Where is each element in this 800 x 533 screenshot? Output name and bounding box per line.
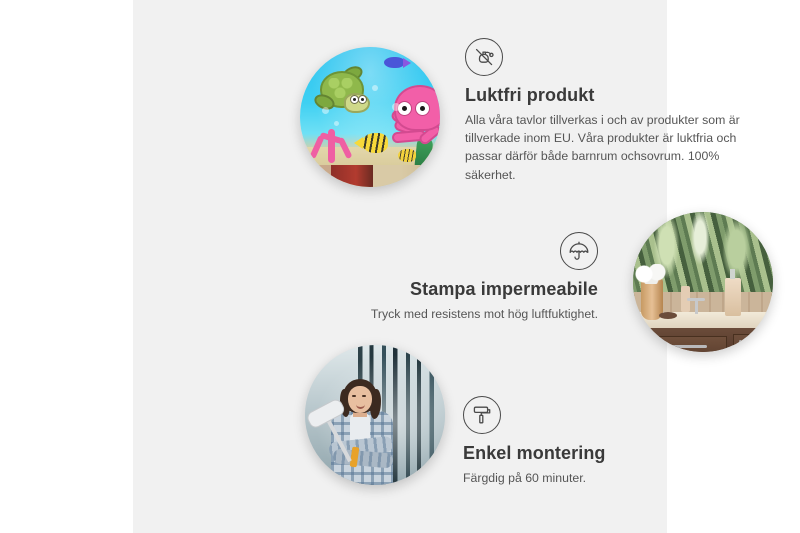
feature-odourless: Luktfri produkt Alla våra tavlor tillver… [465,38,757,184]
feature-title: Enkel montering [463,443,713,464]
feature-description: Tryck med resistens mot hög luftfuktighe… [348,305,598,323]
bathroom-dispenser [725,278,741,316]
bubble-icon [334,121,339,126]
product-image-bathroom[interactable]: Badrum med grön tropisk tapet och trävas… [633,212,773,352]
feature-description: Alla våra tavlor tillverkas i och av pro… [465,111,757,184]
feature-description: Färgdig på 60 minuter. [463,469,713,487]
woman-illustration [323,373,401,485]
blue-fish-illustration [384,57,404,68]
small-yellow-fish-illustration [398,149,416,162]
soap-dish [659,312,677,319]
turtle-illustration [312,69,368,111]
flowers [635,264,669,284]
no-spray-bottle-icon [465,38,503,76]
bubble-icon [392,103,400,111]
content-panel: Undervattensmotiv med sköldpadda, bläckf… [133,0,667,533]
yellow-fish-illustration [362,133,388,153]
feature-title: Stampa impermeabile [348,279,598,300]
vanity-cabinet [643,328,773,352]
bubble-icon [372,85,378,91]
product-image-ocean[interactable]: Undervattensmotiv med sköldpadda, bläckf… [300,47,440,187]
feature-title: Luktfri produkt [465,85,757,106]
faucet-icon [695,300,698,314]
bubble-icon [322,107,329,114]
paint-roller-icon [463,396,501,434]
umbrella-icon [560,232,598,270]
product-image-forest[interactable]: Kvinna med färgrulle framför skogstapet [305,345,445,485]
feature-easy-mounting: Enkel montering Färgdig på 60 minuter. [463,396,713,487]
feature-waterproof: Stampa impermeabile Tryck med resistens … [348,232,598,323]
ocean-foreground-strip [300,165,440,187]
page-canvas: Undervattensmotiv med sköldpadda, bläckf… [0,0,800,533]
octopus-illustration [384,85,440,145]
